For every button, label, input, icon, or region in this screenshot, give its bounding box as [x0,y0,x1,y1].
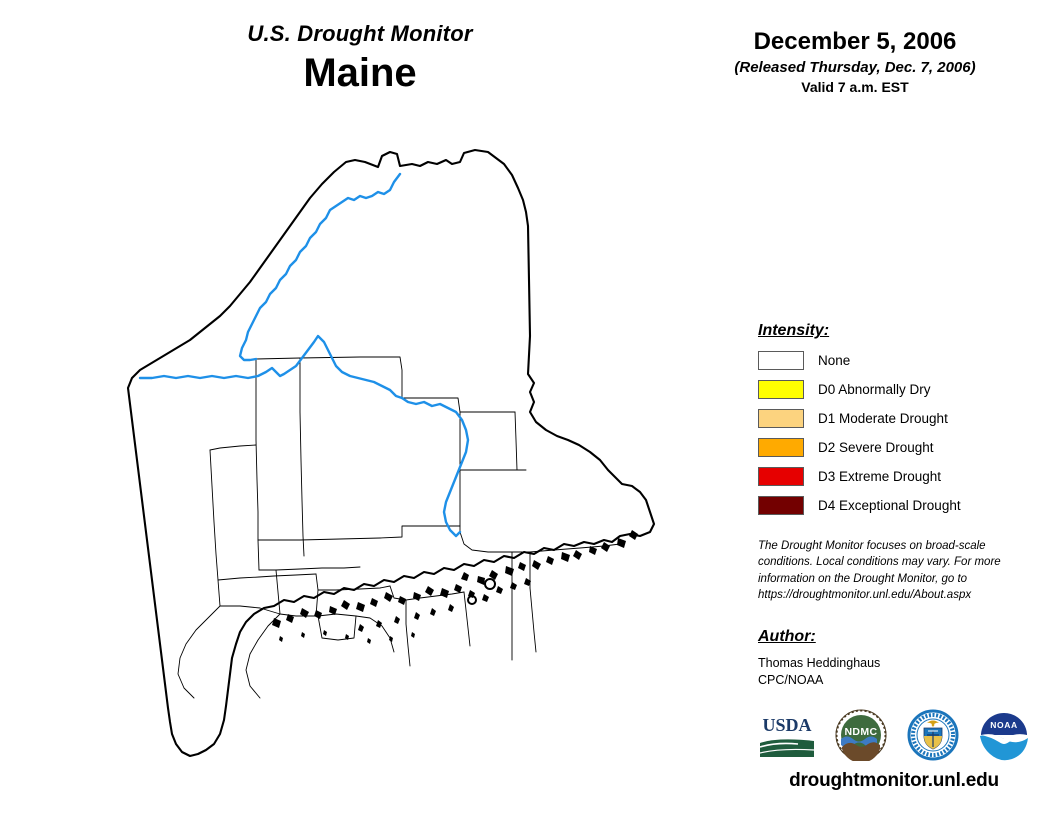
legend-swatch-d0 [758,380,804,399]
author-name: Thomas Heddinghaus [758,655,1020,672]
logo-row: USDA NDMC NOAA [758,704,1030,766]
page-title: U.S. Drought Monitor [150,22,570,46]
county-line-hancock-south [530,588,536,652]
valid-time: Valid 7 a.m. EST [690,79,1020,95]
legend-label-d3: D3 Extreme Drought [818,469,941,484]
legend-label-d0: D0 Abnormally Dry [818,382,931,397]
release-date: (Released Thursday, Dec. 7, 2006) [690,59,1020,76]
drought-map[interactable] [60,140,720,810]
legend-swatch-none [758,351,804,370]
legend-item-d1[interactable]: D1 Moderate Drought [758,407,1028,430]
svg-text:NDMC: NDMC [845,726,878,738]
legend: Intensity: None D0 Abnormally Dry D1 Mod… [758,322,1028,523]
legend-swatch-d4 [758,496,804,515]
svg-text:NOAA: NOAA [990,720,1017,730]
date-block: December 5, 2006 (Released Thursday, Dec… [690,28,1020,95]
legend-swatch-d2 [758,438,804,457]
legend-item-d4[interactable]: D4 Exceptional Drought [758,494,1028,517]
county-line-waldo-south [464,592,470,646]
legend-swatch-d1 [758,409,804,428]
legend-label-d2: D2 Severe Drought [818,440,934,455]
usda-seal-logo[interactable] [907,709,959,761]
author-affiliation: CPC/NOAA [758,672,1020,689]
legend-item-d3[interactable]: D3 Extreme Drought [758,465,1028,488]
state-title: Maine [150,50,570,96]
legend-item-d2[interactable]: D2 Severe Drought [758,436,1028,459]
map-date: December 5, 2006 [690,28,1020,56]
state-fill-layer [128,150,654,756]
legend-label-none: None [818,353,850,368]
usda-logo[interactable]: USDA [758,711,816,759]
maine-state-fill [128,150,654,756]
legend-item-d0[interactable]: D0 Abnormally Dry [758,378,1028,401]
legend-label-d1: D1 Moderate Drought [818,411,948,426]
author-block: Author: Thomas Heddinghaus CPC/NOAA [758,628,1020,689]
author-heading: Author: [758,628,1020,646]
noaa-logo[interactable]: NOAA [978,709,1030,761]
legend-label-d4: D4 Exceptional Drought [818,498,961,513]
legend-heading: Intensity: [758,322,1028,340]
legend-item-none[interactable]: None [758,349,1028,372]
county-line-sagadahoc [318,614,356,640]
site-url[interactable]: droughtmonitor.unl.edu [758,770,1030,792]
maine-map-svg[interactable] [60,140,720,810]
ndmc-logo[interactable]: NDMC [835,709,887,761]
county-line-cumberland-east [246,614,280,698]
county-line-knox-north [406,600,410,666]
legend-swatch-d3 [758,467,804,486]
disclaimer-text: The Drought Monitor focuses on broad-sca… [758,538,1020,603]
svg-text:USDA: USDA [762,715,811,735]
title-block: U.S. Drought Monitor Maine [150,22,570,96]
county-line-lincoln-east [356,616,394,652]
